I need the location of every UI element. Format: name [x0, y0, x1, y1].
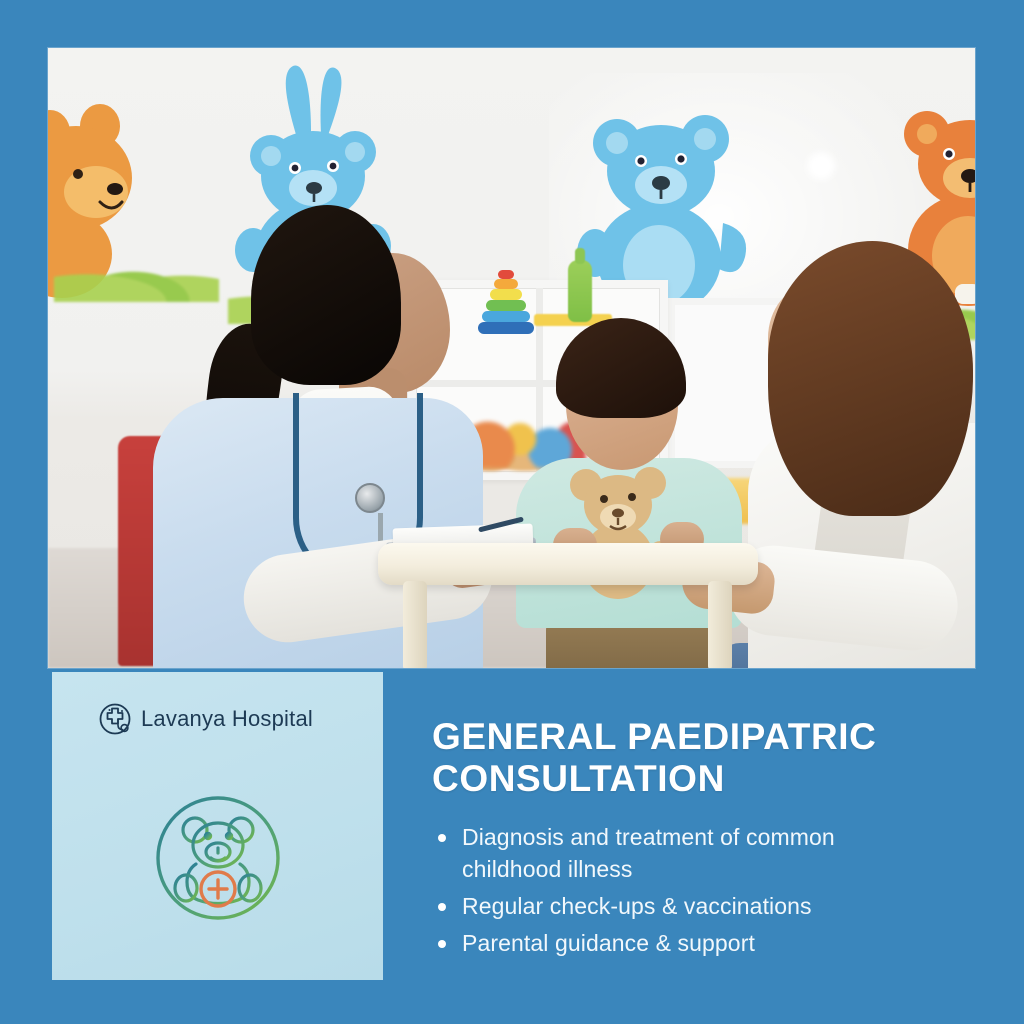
brand-panel: Lavanya Hospital — [52, 672, 383, 980]
hospital-logo-icon — [98, 702, 132, 736]
doctor-hair — [251, 205, 401, 385]
mother-hair — [768, 241, 973, 516]
list-item: Diagnosis and treatment of common childh… — [432, 822, 932, 885]
table-leg-right — [708, 581, 732, 668]
hero-photo — [48, 48, 975, 668]
mother-figure — [738, 223, 975, 668]
table-leg-left — [403, 581, 427, 668]
copy-block: GENERAL PAEDIPATRIC CONSULTATION Diagnos… — [432, 716, 932, 965]
brand-lockup: Lavanya Hospital — [98, 702, 313, 736]
list-item: Parental guidance & support — [432, 928, 932, 959]
green-bottle-toy — [568, 260, 592, 322]
brand-name: Lavanya Hospital — [141, 706, 313, 732]
stethoscope-bell — [355, 483, 385, 513]
teddy-bear-medical-badge-icon — [150, 790, 286, 926]
doctor-figure — [143, 183, 493, 668]
child-hair — [556, 318, 686, 418]
bokeh-light — [803, 148, 839, 184]
list-item: Regular check-ups & vaccinations — [432, 891, 932, 922]
page-title: GENERAL PAEDIPATRIC CONSULTATION — [432, 716, 932, 800]
play-table-top — [378, 543, 758, 585]
service-bullet-list: Diagnosis and treatment of common childh… — [432, 822, 932, 959]
